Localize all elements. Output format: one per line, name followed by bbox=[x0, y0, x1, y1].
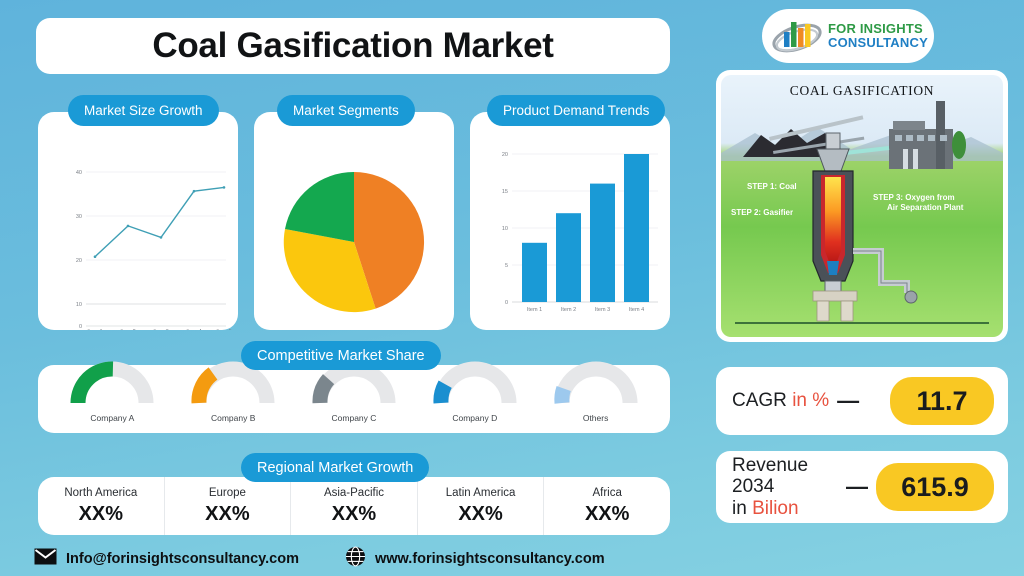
stat-label-revenue-main: Revenue 2034 bbox=[732, 455, 808, 497]
coal-gasification-diagram: COAL GASIFICATION STEP 1: Coal STEP 2: G… bbox=[721, 75, 1003, 337]
stat-dash-cagr: — bbox=[837, 388, 859, 414]
region-cell-north-america: North America XX% bbox=[38, 477, 165, 535]
pie-chart-market-segments bbox=[254, 112, 454, 330]
line-markers bbox=[94, 186, 226, 258]
region-value: XX% bbox=[79, 503, 123, 526]
bar-item-2 bbox=[556, 213, 581, 302]
ytick-0: 0 bbox=[79, 324, 82, 330]
card-competitive-market-share: Company A Company B Company C Company D bbox=[38, 365, 670, 433]
stat-label-cagr: CAGR in % bbox=[732, 390, 829, 411]
stat-card-revenue: Revenue 2034 in Bilion — 615.9 bbox=[716, 451, 1008, 523]
envelope-icon bbox=[34, 548, 57, 570]
region-value: XX% bbox=[585, 503, 629, 526]
gauge-label-others: Others bbox=[542, 413, 650, 423]
stat-label-cagr-main: CAGR bbox=[732, 390, 792, 411]
bar-item-3 bbox=[590, 184, 615, 302]
ytick-5: 5 bbox=[505, 263, 508, 269]
region-name: Latin America bbox=[446, 487, 516, 499]
ytick-10: 10 bbox=[76, 302, 82, 308]
ytick-15: 15 bbox=[502, 189, 508, 195]
footer-email-text: Info@forinsightsconsultancy.com bbox=[66, 551, 299, 567]
illustration-title: COAL GASIFICATION bbox=[721, 83, 1003, 99]
xtick-item-1: Item 1 bbox=[87, 329, 102, 330]
panel-title-competitive-share: Competitive Market Share bbox=[241, 341, 441, 370]
xtick-item-2: Item 2 bbox=[120, 329, 135, 330]
panel-title-product-demand: Product Demand Trends bbox=[487, 95, 665, 126]
panel-title-market-segments: Market Segments bbox=[277, 95, 415, 126]
stat-label-revenue-accent: Bilion bbox=[752, 498, 798, 519]
gauge-company-a: Company A bbox=[58, 361, 166, 423]
ytick-0: 0 bbox=[505, 300, 508, 306]
gauge-label-c: Company C bbox=[300, 413, 408, 423]
card-market-segments bbox=[254, 112, 454, 330]
brand-line-2: CONSULTANCY bbox=[828, 36, 928, 50]
panel-title-regional-growth: Regional Market Growth bbox=[241, 453, 429, 482]
xtick-item-3: Item 3 bbox=[153, 329, 168, 330]
footer-website[interactable]: www.forinsightsconsultancy.com bbox=[345, 546, 605, 572]
card-regional-market-growth: North America XX% Europe XX% Asia-Pacifi… bbox=[38, 477, 670, 535]
gauge-arc-a bbox=[68, 361, 156, 405]
ytick-20: 20 bbox=[502, 152, 508, 158]
card-market-size-growth: 40 30 20 10 0 Item 1 Item 2 Item 3 Item … bbox=[38, 112, 238, 330]
brand-logo-text: FOR INSIGHTS CONSULTANCY bbox=[828, 22, 928, 49]
infographic-canvas: Coal Gasification Market FOR INSIGHTS CO… bbox=[0, 0, 1024, 576]
xtick-item-2: Item 2 bbox=[561, 307, 576, 313]
region-value: XX% bbox=[332, 503, 376, 526]
stat-label-revenue: Revenue 2034 in Bilion bbox=[732, 455, 838, 519]
region-value: XX% bbox=[458, 503, 502, 526]
panel-title-market-size: Market Size Growth bbox=[68, 95, 219, 126]
brand-line-1: FOR INSIGHTS bbox=[828, 22, 928, 36]
region-value: XX% bbox=[205, 503, 249, 526]
region-cell-asia-pacific: Asia-Pacific XX% bbox=[291, 477, 418, 535]
page-title: Coal Gasification Market bbox=[152, 26, 553, 66]
ytick-20: 20 bbox=[76, 258, 82, 264]
page-title-card: Coal Gasification Market bbox=[36, 18, 670, 74]
illustration-step-3-line1: STEP 3: Oxygen from bbox=[873, 193, 955, 202]
gauge-company-b: Company B bbox=[179, 361, 287, 423]
gauge-label-a: Company A bbox=[58, 413, 166, 423]
footer-email[interactable]: Info@forinsightsconsultancy.com bbox=[34, 548, 299, 570]
xtick-item-4: Item 4 bbox=[186, 329, 201, 330]
gauge-label-d: Company D bbox=[421, 413, 529, 423]
bar-chart-swoosh-logo-icon bbox=[770, 15, 824, 57]
brand-logo: FOR INSIGHTS CONSULTANCY bbox=[762, 9, 934, 63]
ytick-10: 10 bbox=[502, 226, 508, 232]
bar-item-1 bbox=[522, 243, 547, 302]
card-product-demand-trends: 20 15 10 5 0 Item 1 Item 2 Item 3 Item 4 bbox=[470, 112, 670, 330]
stat-label-revenue-second: in bbox=[732, 498, 752, 519]
gauge-arc-d bbox=[431, 361, 519, 405]
stat-label-cagr-accent: in % bbox=[792, 390, 829, 411]
gauge-company-c: Company C bbox=[300, 361, 408, 423]
bar-item-4 bbox=[624, 154, 649, 302]
xtick-item-4: Item 4 bbox=[629, 307, 644, 313]
globe-icon bbox=[345, 546, 366, 572]
region-cell-africa: Africa XX% bbox=[544, 477, 670, 535]
region-cell-latin-america: Latin America XX% bbox=[418, 477, 545, 535]
illustration-step-3: STEP 3: Oxygen from Air Separation Plant bbox=[873, 193, 1003, 213]
gauge-others: Others bbox=[542, 361, 650, 423]
stat-card-cagr: CAGR in % — 11.7 bbox=[716, 367, 1008, 435]
stat-dash-revenue: — bbox=[846, 474, 868, 500]
region-name: Africa bbox=[592, 487, 621, 499]
xtick-item-1: Item 1 bbox=[527, 307, 542, 313]
gauge-arc-others bbox=[552, 361, 640, 405]
region-name: Asia-Pacific bbox=[324, 487, 384, 499]
region-name: Europe bbox=[209, 487, 246, 499]
stat-value-cagr: 11.7 bbox=[890, 377, 994, 425]
ytick-40: 40 bbox=[76, 170, 82, 176]
ytick-30: 30 bbox=[76, 214, 82, 220]
illustration-step-2: STEP 2: Gasifier bbox=[731, 208, 793, 218]
gauge-label-b: Company B bbox=[179, 413, 287, 423]
region-cell-europe: Europe XX% bbox=[165, 477, 292, 535]
footer-website-text: www.forinsightsconsultancy.com bbox=[375, 551, 605, 567]
card-coal-gasification-illustration: COAL GASIFICATION STEP 1: Coal STEP 2: G… bbox=[716, 70, 1008, 342]
line-series bbox=[95, 187, 224, 256]
gauge-company-d: Company D bbox=[421, 361, 529, 423]
illustration-step-3-line2: Air Separation Plant bbox=[873, 203, 963, 212]
illustration-step-1: STEP 1: Coal bbox=[747, 182, 797, 192]
bar-chart-product-demand: 20 15 10 5 0 Item 1 Item 2 Item 3 Item 4 bbox=[470, 112, 670, 330]
footer-bar: Info@forinsightsconsultancy.com www.fori… bbox=[0, 542, 1024, 576]
xtick-item-5: Item 5 bbox=[216, 329, 231, 330]
stat-value-revenue: 615.9 bbox=[876, 463, 994, 511]
xtick-item-3: Item 3 bbox=[595, 307, 610, 313]
line-chart-market-size: 40 30 20 10 0 Item 1 Item 2 Item 3 Item … bbox=[38, 112, 238, 330]
region-name: North America bbox=[64, 487, 137, 499]
